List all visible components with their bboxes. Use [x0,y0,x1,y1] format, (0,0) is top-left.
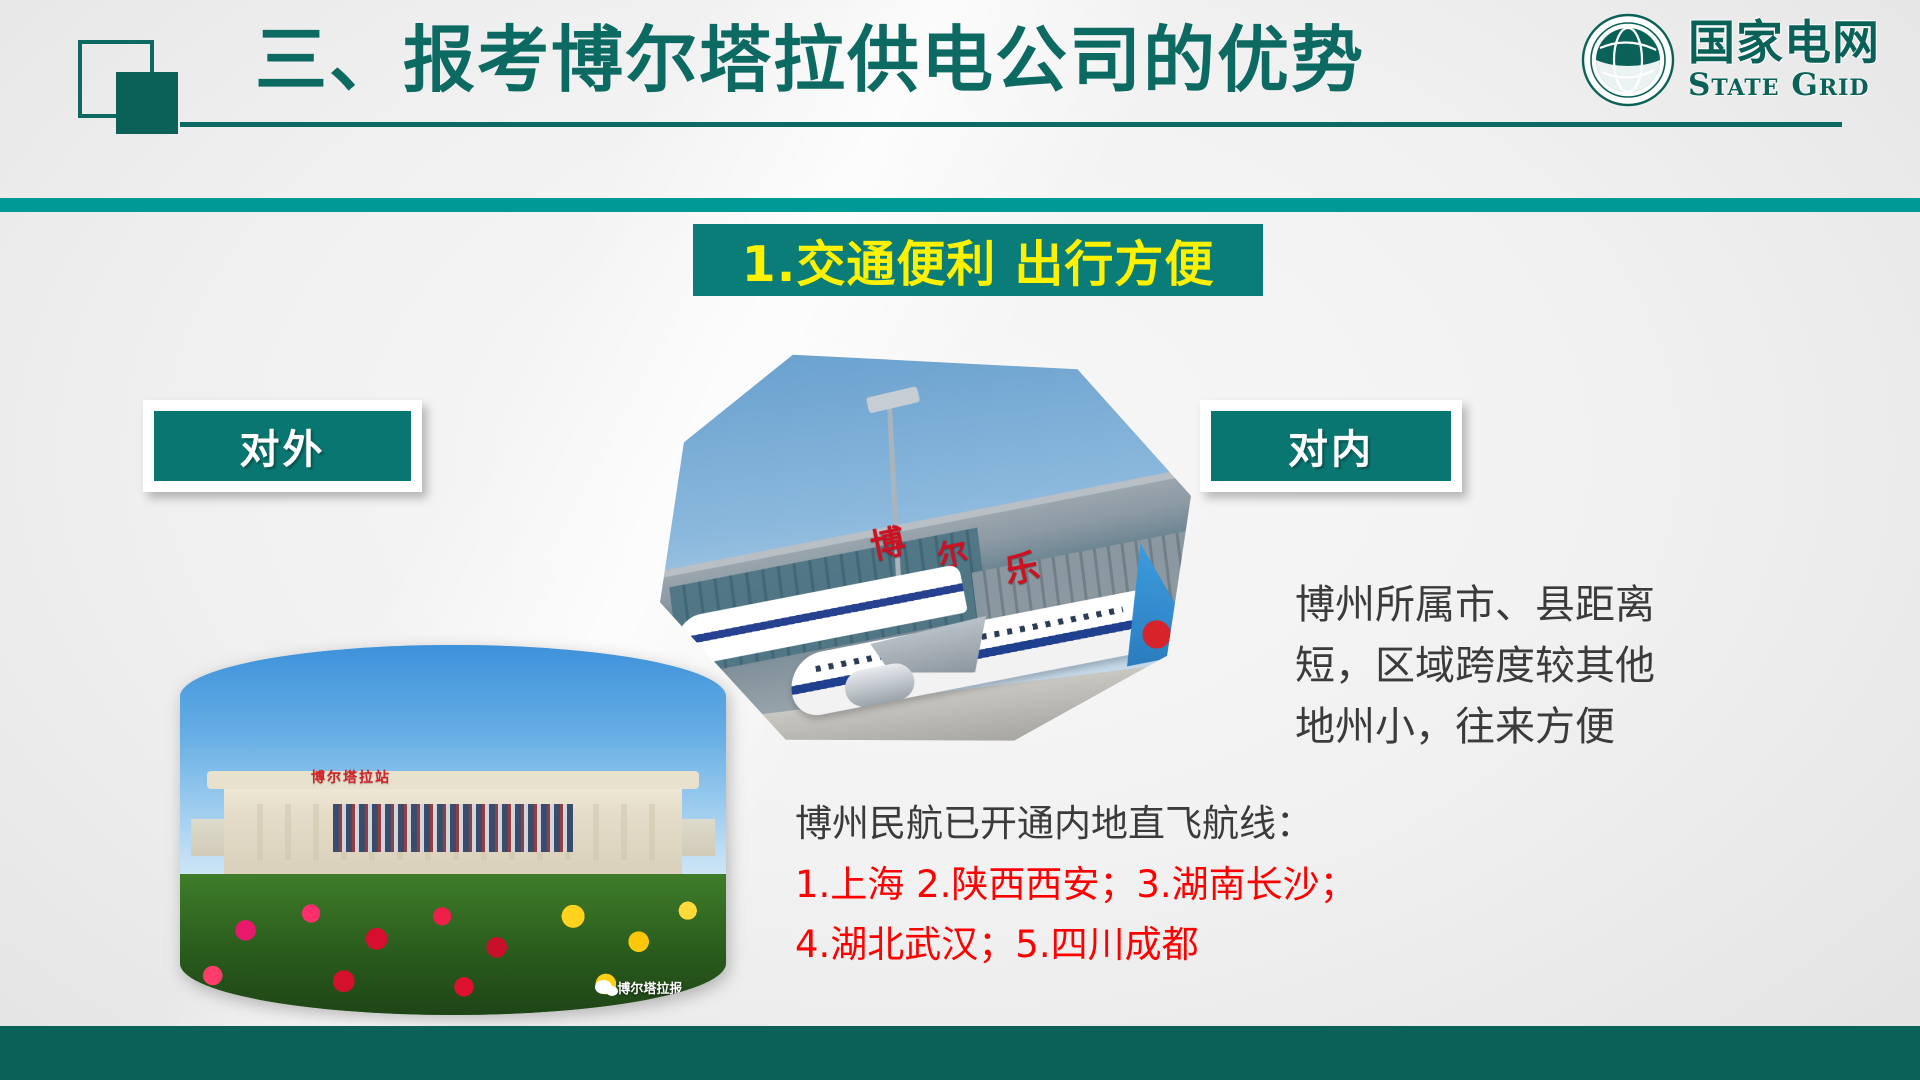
label-chip-external-fill: 对外 [154,411,411,481]
photo-watermark-text: 博尔塔拉报 [617,978,682,997]
air-routes-list: 1.上海 2.陕西西安；3.湖南长沙； 4.湖北武汉；5.四川成都 [795,855,1357,975]
photo-railway-station: 博尔塔拉站 博尔塔拉报 [180,645,726,1015]
decor-square-filled-icon [116,72,178,134]
air-routes-line-2: 4.湖北武汉；5.四川成都 [795,915,1357,975]
station-roof [207,771,698,790]
header-accent-band [0,198,1920,212]
label-chip-external-text: 对外 [240,417,326,475]
station-facade-glass [333,804,573,852]
title-underline-rule [180,122,1842,127]
slide-canvas: 三、报考博尔塔拉供电公司的优势 国家电网 State Grid [0,0,1920,1080]
label-chip-internal-fill: 对内 [1211,411,1451,481]
label-chip-internal: 对内 [1200,400,1462,492]
photo-watermark: 博尔塔拉报 [595,978,682,997]
page-title: 三、报考博尔塔拉供电公司的优势 [255,20,1365,101]
footer-accent-bar [0,1026,1920,1080]
section-banner-label: 1.交通便利 出行方便 [742,225,1215,296]
station-name-sign: 博尔塔拉站 [311,767,391,787]
logo-chinese-text: 国家电网 [1688,20,1880,67]
section-banner: 1.交通便利 出行方便 [693,224,1263,296]
label-chip-internal-text: 对内 [1288,417,1374,475]
slide-header: 三、报考博尔塔拉供电公司的优势 国家电网 State Grid [0,0,1920,200]
state-grid-wordmark: 国家电网 State Grid [1688,20,1880,101]
logo-english-text: State Grid [1688,70,1869,101]
state-grid-logo: 国家电网 State Grid [1578,8,1902,112]
internal-description-text: 博州所属市、县距离短，区域跨度较其他地州小，往来方便 [1295,575,1675,757]
air-routes-line-1: 1.上海 2.陕西西安；3.湖南长沙； [795,855,1357,915]
air-routes-intro-text: 博州民航已开通内地直飞航线： [795,793,1313,847]
label-chip-external: 对外 [143,400,422,492]
photo-railway-station-artwork: 博尔塔拉站 博尔塔拉报 [180,645,726,1015]
wechat-icon [595,980,612,994]
state-grid-emblem-icon [1578,10,1678,110]
